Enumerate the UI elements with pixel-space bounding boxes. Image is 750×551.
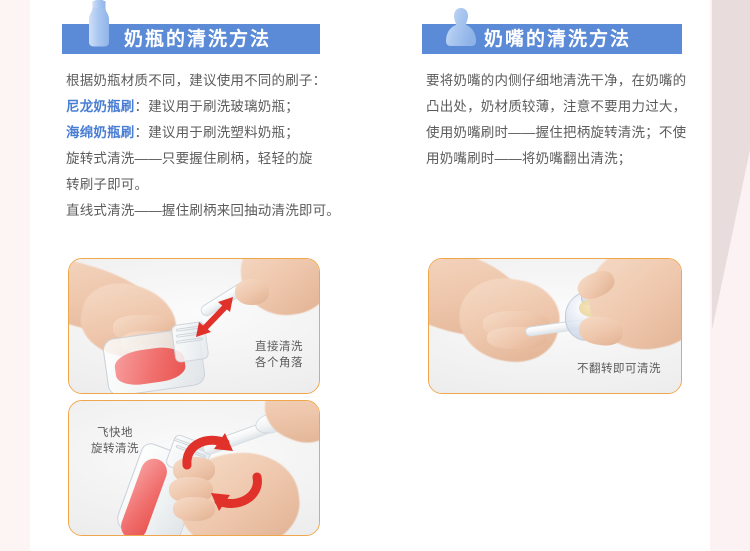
photo-caption: 飞快地 旋转清洗	[91, 425, 139, 457]
photo-caption: 直接清洗 各个角落	[255, 339, 303, 371]
nipple-instructions-text: 要将奶嘴的内侧仔细地清洗干净，在奶嘴的 凸出处，奶材质较薄，注意不要用力过大， …	[422, 68, 684, 172]
instruction-line: 海绵奶瓶刷：建议用于刷洗塑料奶瓶；	[66, 120, 380, 146]
instruction-line: 根据奶瓶材质不同，建议使用不同的刷子：	[66, 68, 380, 94]
bottle-instructions-text: 根据奶瓶材质不同，建议使用不同的刷子： 尼龙奶瓶刷：建议用于刷洗玻璃奶瓶； 海绵…	[62, 68, 380, 224]
photo-no-flip-clean: 不翻转即可清洗	[428, 258, 682, 394]
instruction-line: 凸出处，奶材质较薄，注意不要用力过大，	[426, 94, 684, 120]
baby-bottle-icon	[84, 0, 114, 52]
photo-rotate-clean: 飞快地 旋转清洗	[68, 400, 320, 536]
instruction-line: 尼龙奶瓶刷：建议用于刷洗玻璃奶瓶；	[66, 94, 380, 120]
section-header-bottle: 奶瓶的清洗方法	[62, 0, 380, 58]
instruction-line: 要将奶嘴的内侧仔细地清洗干净，在奶嘴的	[426, 68, 684, 94]
instruction-line: 直线式清洗——握住刷柄来回抽动清洗即可。	[66, 198, 380, 224]
photo-direct-clean: 直接清洗 各个角落	[68, 258, 320, 394]
photo-caption: 不翻转即可清洗	[577, 361, 661, 377]
link-sponge-brush[interactable]: 海绵奶瓶刷	[66, 125, 135, 140]
page-left-edge-strip	[0, 0, 30, 551]
page-title-bottle: 奶瓶的清洗方法	[124, 30, 271, 49]
instruction-line: 使用奶嘴刷时——握住把柄旋转清洗；不使	[426, 120, 684, 146]
baby-nipple-icon	[444, 7, 478, 52]
photo-image: 飞快地 旋转清洗	[69, 401, 319, 535]
instruction-line: 旋转式清洗——只要握住刷柄，轻轻的旋	[66, 146, 380, 172]
product-detail-page: 奶瓶的清洗方法 根	[0, 0, 750, 551]
instruction-line: 用奶嘴刷时——将奶嘴翻出清洗；	[426, 146, 684, 172]
photo-image: 直接清洗 各个角落	[69, 259, 319, 393]
double-arrow-icon	[189, 291, 241, 343]
page-right-edge-strip	[710, 0, 750, 551]
page-title-nipple: 奶嘴的清洗方法	[484, 30, 631, 49]
photo-image: 不翻转即可清洗	[429, 259, 681, 393]
section-header-nipple: 奶嘴的清洗方法	[422, 0, 684, 58]
rotation-arrow-icon	[203, 463, 267, 515]
instruction-line: 转刷子即可。	[66, 172, 380, 198]
section-nipple-cleaning: 奶嘴的清洗方法 要将奶嘴的内侧仔细地清洗干净，在奶嘴的	[422, 0, 684, 172]
link-nylon-brush[interactable]: 尼龙奶瓶刷	[66, 99, 135, 114]
section-bottle-cleaning: 奶瓶的清洗方法 根	[62, 0, 380, 224]
